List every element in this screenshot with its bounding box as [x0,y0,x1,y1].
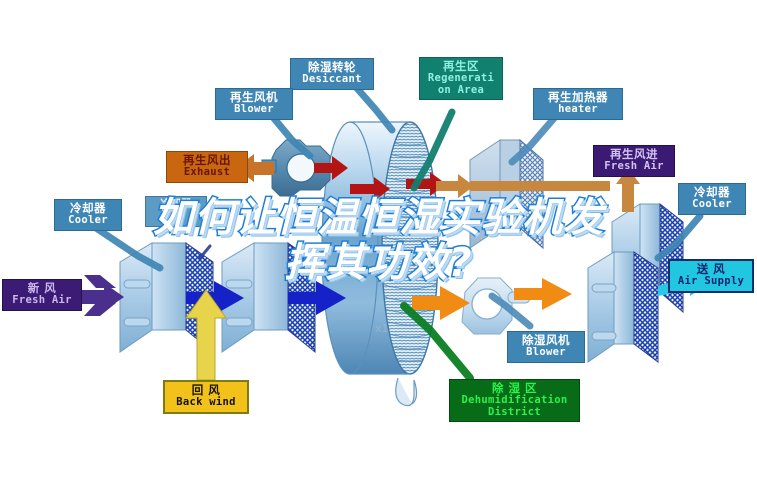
label-exhaust[interactable]: 再生风出 Exhaust [166,151,248,183]
label-cooler-middle-cn: 冷却器 [151,199,201,210]
label-back-wind-en: Back wind [170,397,242,409]
label-cooler-left-cn: 冷却器 [60,202,116,215]
label-fresh-air-in-cn: 新 风 [8,282,76,295]
label-regeneration-blower-en: Blower [221,104,287,116]
label-regeneration-fresh-air-in-cn: 再生风进 [599,148,669,161]
label-regeneration-heater-en: heater [539,104,617,116]
label-regeneration-area-en-1: Regenerati [425,73,497,85]
label-dehumidify-blower-cn: 除湿风机 [513,334,579,347]
dehumidify-blower-housing [462,278,530,334]
label-dehumidification-district[interactable]: 除 湿 区 Dehumidification District [449,379,580,422]
label-regeneration-area-cn: 再生区 [425,60,497,73]
label-dehumidification-district-cn: 除 湿 区 [455,382,574,395]
label-regeneration-fresh-air-in[interactable]: 再生风进 Fresh Air [593,145,675,177]
label-cooler-right-en: Cooler [684,199,740,211]
rotor-drive-belt [396,378,417,406]
label-desiccant-wheel-en: Desiccant [296,74,368,86]
label-regeneration-area-en-2: on Area [425,85,497,97]
label-exhaust-cn: 再生风出 [172,154,242,167]
label-regeneration-fresh-air-in-en: Fresh Air [599,161,669,173]
dehumid-out-arrow-2 [514,278,572,310]
label-air-supply[interactable]: 送 风 Air Supply [668,259,754,293]
label-cooler-right[interactable]: 冷却器 Cooler [678,183,746,215]
label-regeneration-area[interactable]: 再生区 Regenerati on Area [419,57,503,100]
label-cooler-left-en: Cooler [60,215,116,227]
watermark-text: x1 [375,322,389,335]
diagram-canvas: x1 [0,0,757,488]
label-regeneration-heater-cn: 再生加热器 [539,91,617,104]
label-air-supply-cn: 送 风 [675,263,747,276]
label-cooler-middle-obscured[interactable]: 冷却器 [145,196,207,227]
fresh-air-inlet-arrow [82,275,124,316]
label-dehumidification-district-en-1: Dehumidification [455,395,574,407]
label-back-wind[interactable]: 回 风 Back wind [163,380,249,414]
label-dehumidification-district-en-2: District [455,407,574,419]
heat-exchanger-coil-3 [588,252,658,362]
label-cooler-left[interactable]: 冷却器 Cooler [54,199,122,231]
label-regeneration-blower[interactable]: 再生风机 Blower [215,88,293,120]
label-dehumidify-blower[interactable]: 除湿风机 Blower [507,331,585,363]
label-desiccant-wheel-cn: 除湿转轮 [296,61,368,74]
label-fresh-air-in-en: Fresh Air [8,295,76,307]
label-exhaust-en: Exhaust [172,167,242,179]
label-air-supply-en: Air Supply [675,276,747,288]
label-back-wind-cn: 回 风 [170,384,242,397]
diagram-graphics: x1 [0,0,757,488]
regen-heater-coil [470,140,543,248]
label-regeneration-blower-cn: 再生风机 [221,91,287,104]
label-dehumidify-blower-en: Blower [513,347,579,359]
desiccant-rotor: x1 [322,122,438,374]
label-fresh-air-in[interactable]: 新 风 Fresh Air [2,279,82,311]
label-desiccant-wheel[interactable]: 除湿转轮 Desiccant [290,58,374,90]
label-regeneration-heater[interactable]: 再生加热器 heater [533,88,623,120]
label-cooler-right-cn: 冷却器 [684,186,740,199]
